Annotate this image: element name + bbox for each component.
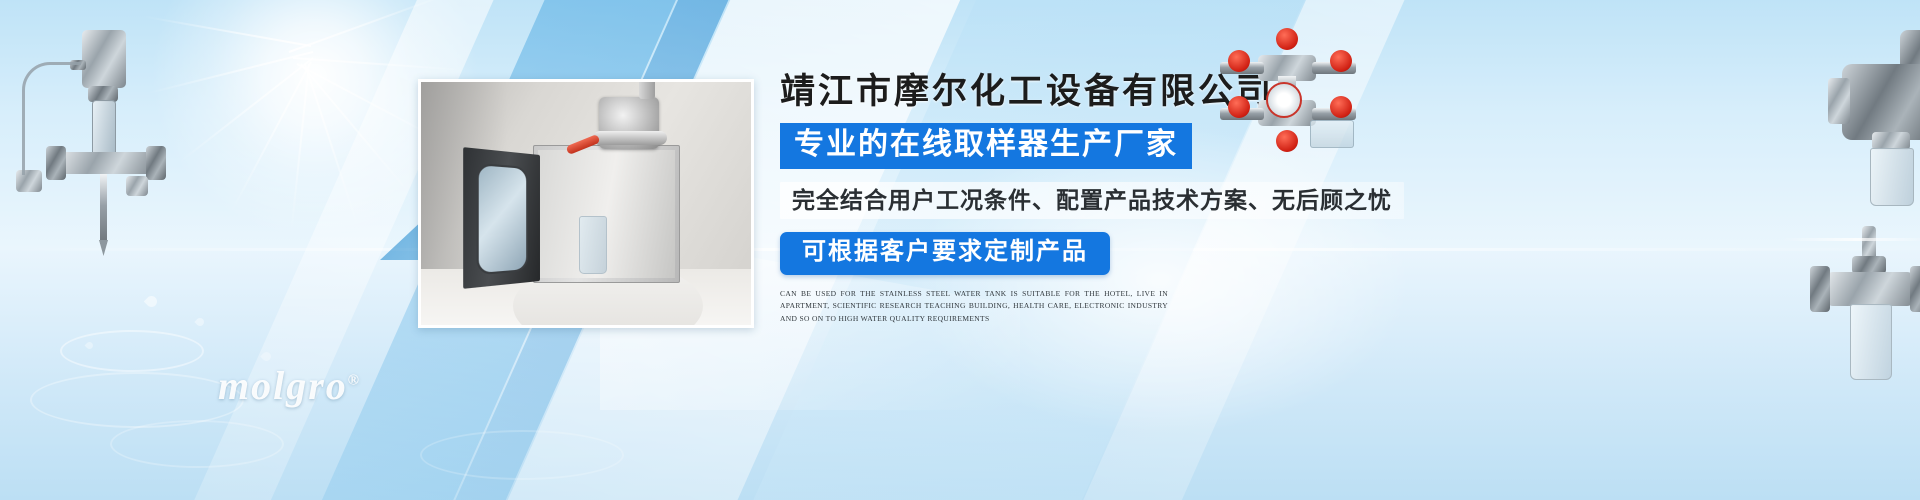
inline-valve-body (1826, 272, 1914, 306)
left-side-valve (146, 146, 166, 180)
sun-ray-icon (148, 51, 313, 94)
sun-ray-icon (289, 0, 449, 53)
inline-right-flange (1910, 266, 1920, 312)
product-photo (421, 82, 751, 325)
flange-valve-body (1842, 64, 1920, 140)
sample-vessel (1310, 120, 1354, 148)
sun-ray-icon (300, 63, 411, 195)
water-droplet-icon (194, 316, 205, 327)
water-ripple (30, 372, 244, 428)
photo-valve-flange (593, 131, 667, 145)
photo-cabinet-door (463, 147, 540, 289)
sample-bottle (1870, 148, 1914, 206)
flange-left-port (1828, 78, 1850, 124)
product-photo-frame (418, 79, 754, 328)
slogan-highlight: 专业的在线取样器生产厂家 (780, 123, 1192, 169)
left-support-arm (22, 62, 81, 175)
red-handwheel-icon (1228, 96, 1250, 118)
photo-valve-stem (639, 82, 655, 99)
left-probe-stem (100, 174, 107, 244)
left-actuator-head (82, 30, 126, 88)
red-handwheel-icon (1276, 28, 1298, 50)
water-ripple (110, 420, 284, 468)
red-handwheel-icon (1228, 50, 1250, 72)
sun-ray-icon (230, 62, 312, 213)
inline-stem (1862, 226, 1876, 260)
photo-sample-bottle (579, 216, 607, 274)
photo-door-window (477, 162, 529, 275)
water-ripple (420, 430, 624, 480)
inline-collection-bottle (1850, 304, 1892, 380)
water-droplet-icon (260, 350, 273, 363)
sun-ray-icon (290, 64, 310, 233)
customize-cta-button[interactable]: 可根据客户要求定制产品 (780, 232, 1110, 274)
sun-ray-icon (293, 57, 463, 71)
english-caption: CAN BE USED FOR THE STAINLESS STEEL WATE… (780, 288, 1168, 326)
inline-left-flange (1810, 266, 1830, 312)
shelf-line (1782, 238, 1920, 241)
red-handwheel-icon (1330, 50, 1352, 72)
company-seal-icon (1266, 82, 1302, 118)
red-handwheel-icon (1276, 130, 1298, 152)
registered-mark-icon: ® (348, 373, 361, 389)
promo-banner: 靖江市摩尔化工设备有限公司 专业的在线取样器生产厂家 完全结合用户工况条件、配置… (0, 0, 1920, 500)
water-ripple (60, 330, 204, 372)
left-end-cap (126, 176, 148, 196)
water-droplet-icon (85, 341, 95, 351)
sun-ray-icon (304, 64, 358, 226)
water-droplet-icon (144, 294, 160, 310)
sub-headline: 完全结合用户工况条件、配置产品技术方案、无后顾之忧 (780, 182, 1404, 219)
sun-ray-icon (143, 15, 311, 46)
watermark-text: molgro (218, 363, 348, 408)
left-probe-tip (99, 240, 108, 256)
sun-ray-icon (178, 57, 313, 163)
brand-watermark: molgro® (218, 362, 361, 409)
red-handwheel-icon (1330, 96, 1352, 118)
